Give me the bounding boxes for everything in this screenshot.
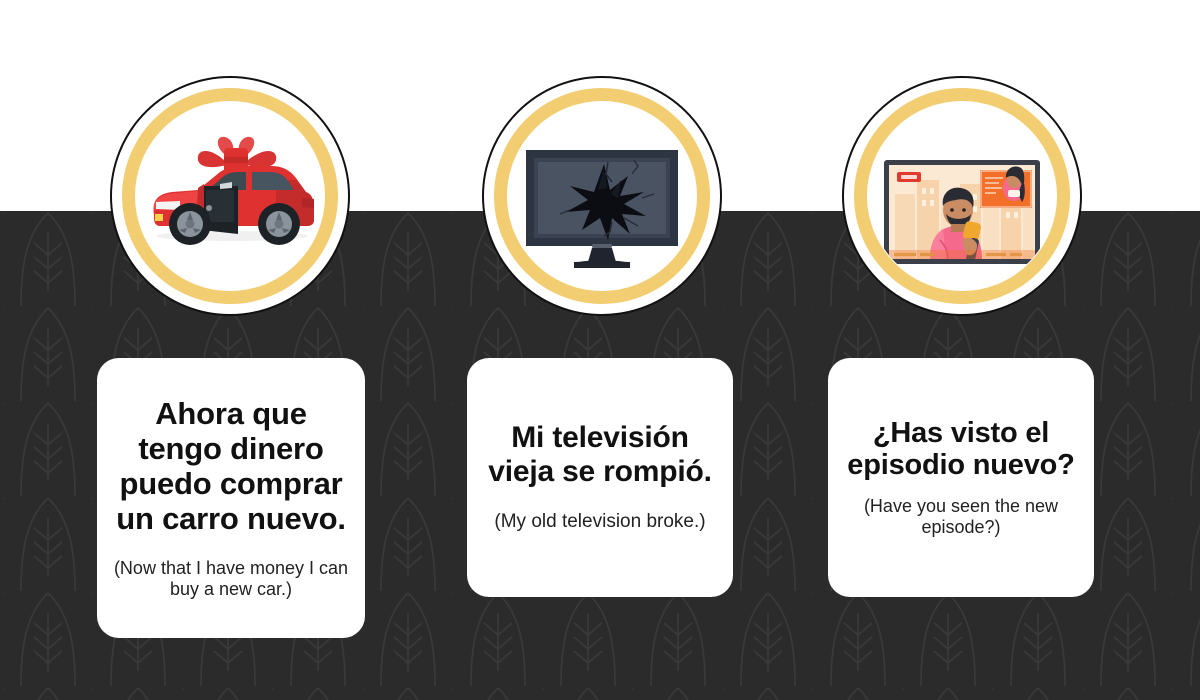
- badge-image-area: [136, 102, 324, 290]
- card-spanish-text: Mi televisión vieja se rompió.: [481, 421, 719, 489]
- broken-television-icon: [508, 102, 696, 290]
- car-with-gift-bow-icon: [136, 102, 324, 290]
- card-english-translation: (Now that I have money I can buy a new c…: [111, 558, 351, 600]
- badge-news-broadcast: [842, 76, 1082, 316]
- badge-image-area: [868, 102, 1056, 290]
- card-english-translation: (Have you seen the new episode?): [842, 496, 1080, 538]
- badge-broken-tv: [482, 76, 722, 316]
- card-english-translation: (My old television broke.): [494, 511, 705, 533]
- card-spanish-text: ¿Has visto el episodio nuevo?: [842, 417, 1080, 483]
- slide-canvas: Ahora que tengo dinero puedo comprar un …: [0, 0, 1200, 700]
- phrase-card-tv: Mi televisión vieja se rompió. (My old t…: [467, 358, 733, 597]
- phrase-card-news: ¿Has visto el episodio nuevo? (Have you …: [828, 358, 1094, 597]
- phrase-card-car: Ahora que tengo dinero puedo comprar un …: [97, 358, 365, 638]
- badge-car: [110, 76, 350, 316]
- news-broadcast-icon: [868, 102, 1056, 290]
- badge-image-area: [508, 102, 696, 290]
- card-spanish-text: Ahora que tengo dinero puedo comprar un …: [111, 396, 351, 536]
